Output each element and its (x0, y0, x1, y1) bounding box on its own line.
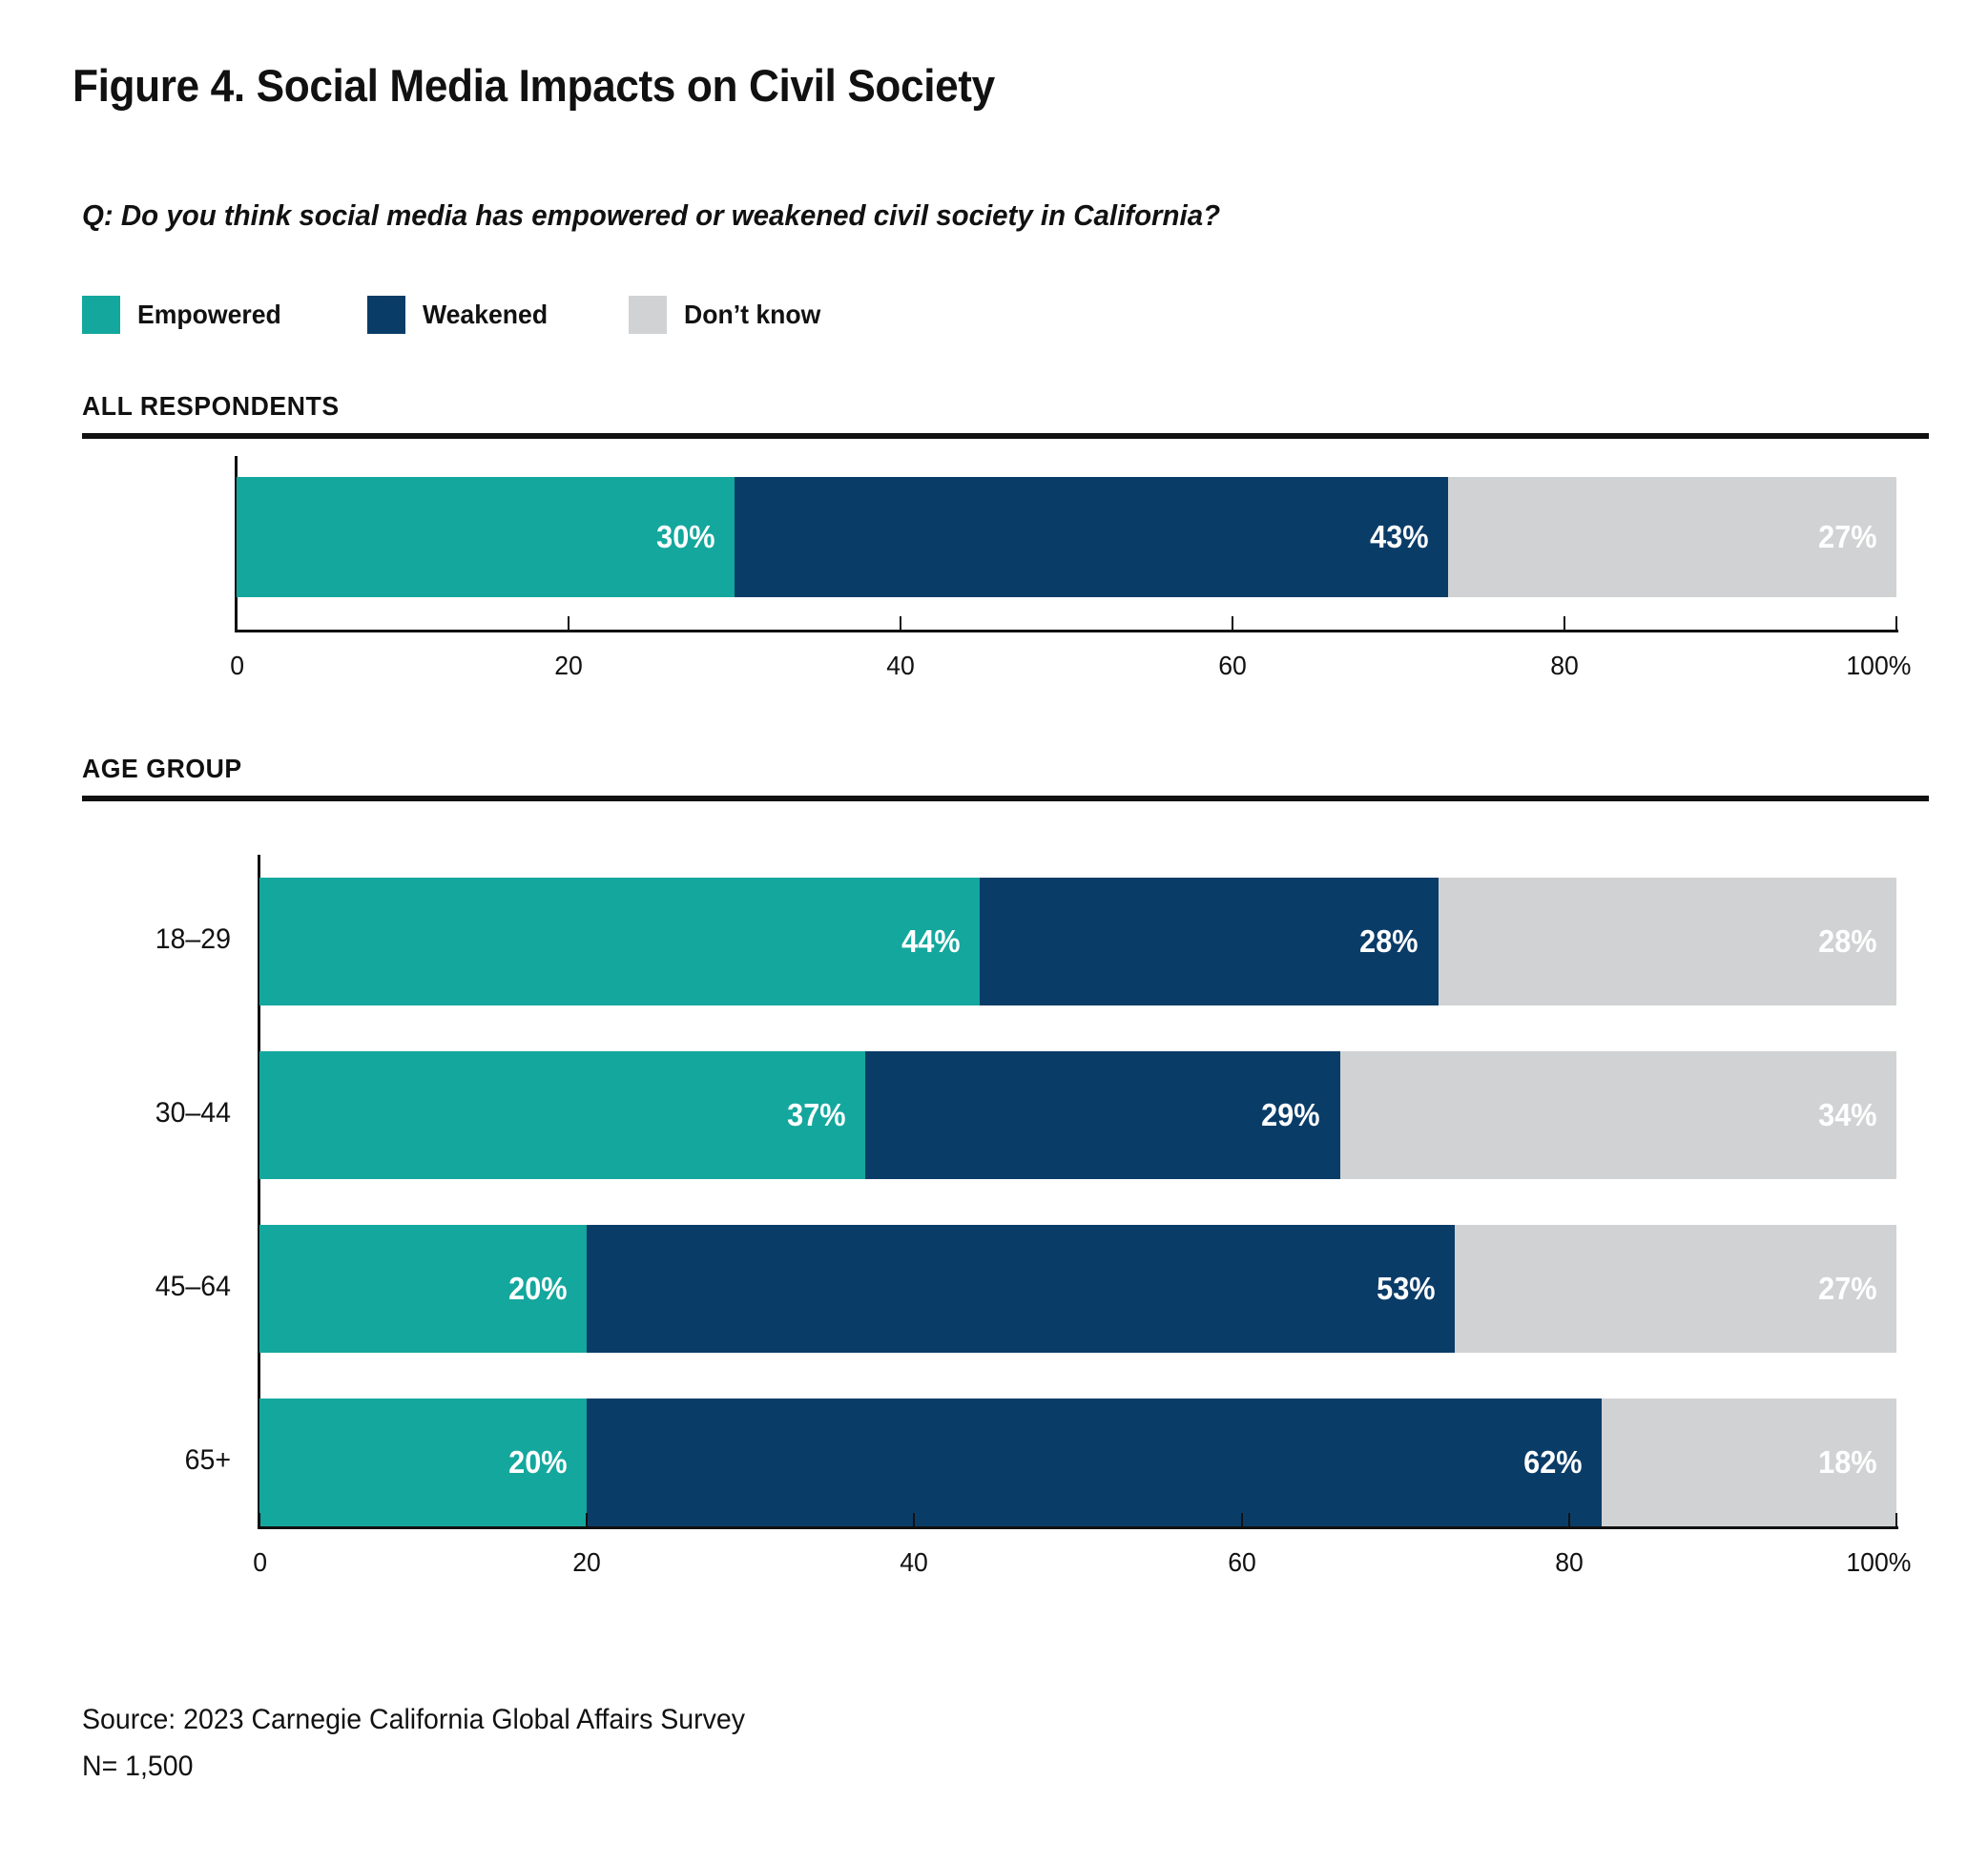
x-axis-tick-label: 0 (230, 651, 244, 681)
x-axis-line (235, 630, 1898, 632)
bar-segment-don-t-know: 27% (1455, 1225, 1896, 1353)
chart-legend: Empowered Weakened Don’t know (82, 296, 828, 334)
bar-segment-weakened: 62% (587, 1399, 1602, 1526)
bar-segment-value: 43% (1370, 519, 1448, 555)
figure-canvas: Figure 4. Social Media Impacts on Civil … (0, 0, 1988, 1865)
x-axis-tick-label: 40 (901, 1547, 929, 1578)
bar-row: 20%62%18% (0, 1399, 1988, 1526)
bar-segment-weakened: 43% (735, 477, 1448, 597)
chart-age-group: 44%28%28%18–2937%29%34%30–4420%53%27%45–… (0, 878, 1988, 1603)
source-line-2: N= 1,500 (82, 1743, 745, 1790)
x-axis-tick (568, 616, 569, 630)
bar-segment-don-t-know: 18% (1602, 1399, 1896, 1526)
bar-segment-value: 37% (787, 1097, 865, 1133)
x-axis-tick-label: 20 (572, 1547, 601, 1578)
x-axis-tick (1895, 616, 1897, 630)
x-axis-tick-label: 80 (1550, 651, 1579, 681)
bar-segment-weakened: 28% (980, 878, 1438, 1005)
x-axis-tick-label: 40 (886, 651, 915, 681)
bar-segment-value: 20% (508, 1444, 587, 1481)
x-axis-tick (913, 1513, 915, 1526)
bar-segment-value: 27% (1818, 519, 1896, 555)
x-axis-tick (586, 1513, 588, 1526)
legend-label-dont-know: Don’t know (684, 300, 820, 330)
bar-segment-value: 44% (901, 923, 980, 960)
x-axis-tick (1563, 616, 1565, 630)
bar-row: 30%43%27% (0, 477, 1988, 597)
x-axis-tick (900, 616, 901, 630)
bar-segment-value: 62% (1523, 1444, 1602, 1481)
page-title: Figure 4. Social Media Impacts on Civil … (72, 59, 995, 112)
legend-swatch-empowered-icon (82, 296, 120, 334)
source-note: Source: 2023 Carnegie California Global … (82, 1696, 745, 1790)
bar-segment-value: 30% (656, 519, 735, 555)
legend-swatch-dont-know-icon (629, 296, 667, 334)
legend-item-dont-know: Don’t know (629, 296, 828, 334)
x-axis-tick-label: 80 (1555, 1547, 1584, 1578)
bar-segment-empowered: 37% (259, 1051, 865, 1179)
bar-segment-don-t-know: 28% (1439, 878, 1896, 1005)
x-axis-tick (1568, 1513, 1570, 1526)
bar-segment-weakened: 29% (865, 1051, 1340, 1179)
bar-segment-value: 20% (508, 1271, 587, 1307)
legend-swatch-weakened-icon (367, 296, 405, 334)
bar-segment-don-t-know: 27% (1448, 477, 1896, 597)
section-divider (82, 796, 1929, 801)
x-axis-tick-label: 100% (1846, 651, 1911, 681)
bar-segment-don-t-know: 34% (1340, 1051, 1896, 1179)
bar-segment-value: 27% (1818, 1271, 1896, 1307)
category-label: 65+ (30, 1444, 231, 1477)
legend-label-empowered: Empowered (137, 300, 281, 330)
x-axis-line (258, 1526, 1898, 1529)
section-header-all-respondents: ALL RESPONDENTS (82, 391, 1929, 439)
bar-segment-value: 18% (1818, 1444, 1896, 1481)
bar-segment-empowered: 20% (259, 1225, 587, 1353)
category-label: 45–64 (30, 1271, 231, 1303)
x-axis-tick-label: 20 (554, 651, 583, 681)
section-title-age-group: AGE GROUP (82, 754, 1836, 784)
category-label: 18–29 (30, 923, 231, 956)
x-axis-tick-label: 60 (1228, 1547, 1256, 1578)
x-axis-tick (236, 616, 238, 630)
bar-segment-value: 28% (1360, 923, 1439, 960)
bar-segment-value: 28% (1818, 923, 1896, 960)
chart-all-respondents: 30%43%27%020406080100% (0, 477, 1988, 668)
x-axis-tick (1232, 616, 1233, 630)
bar-segment-empowered: 44% (259, 878, 980, 1005)
section-divider (82, 433, 1929, 439)
bar-segment-weakened: 53% (587, 1225, 1454, 1353)
bar-segment-value: 34% (1818, 1097, 1896, 1133)
category-label: 30–44 (30, 1097, 231, 1129)
x-axis-tick-label: 60 (1218, 651, 1247, 681)
x-axis-tick-label: 0 (253, 1547, 267, 1578)
x-axis-tick (1241, 1513, 1243, 1526)
x-axis-tick (1895, 1513, 1897, 1526)
section-title-all-respondents: ALL RESPONDENTS (82, 391, 1836, 422)
bar-row: 37%29%34% (0, 1051, 1988, 1179)
bar-segment-value: 53% (1377, 1271, 1455, 1307)
legend-item-weakened: Weakened (367, 296, 554, 334)
source-line-1: Source: 2023 Carnegie California Global … (82, 1696, 745, 1743)
legend-item-empowered: Empowered (82, 296, 289, 334)
x-axis-tick-label: 100% (1846, 1547, 1911, 1578)
figure-question: Q: Do you think social media has empower… (82, 198, 1220, 233)
bar-segment-value: 29% (1262, 1097, 1340, 1133)
x-axis-tick (259, 1513, 260, 1526)
bar-row: 20%53%27% (0, 1225, 1988, 1353)
legend-label-weakened: Weakened (423, 300, 548, 330)
bar-segment-empowered: 20% (259, 1399, 587, 1526)
bar-segment-empowered: 30% (237, 477, 735, 597)
bar-row: 44%28%28% (0, 878, 1988, 1005)
section-header-age-group: AGE GROUP (82, 754, 1929, 801)
